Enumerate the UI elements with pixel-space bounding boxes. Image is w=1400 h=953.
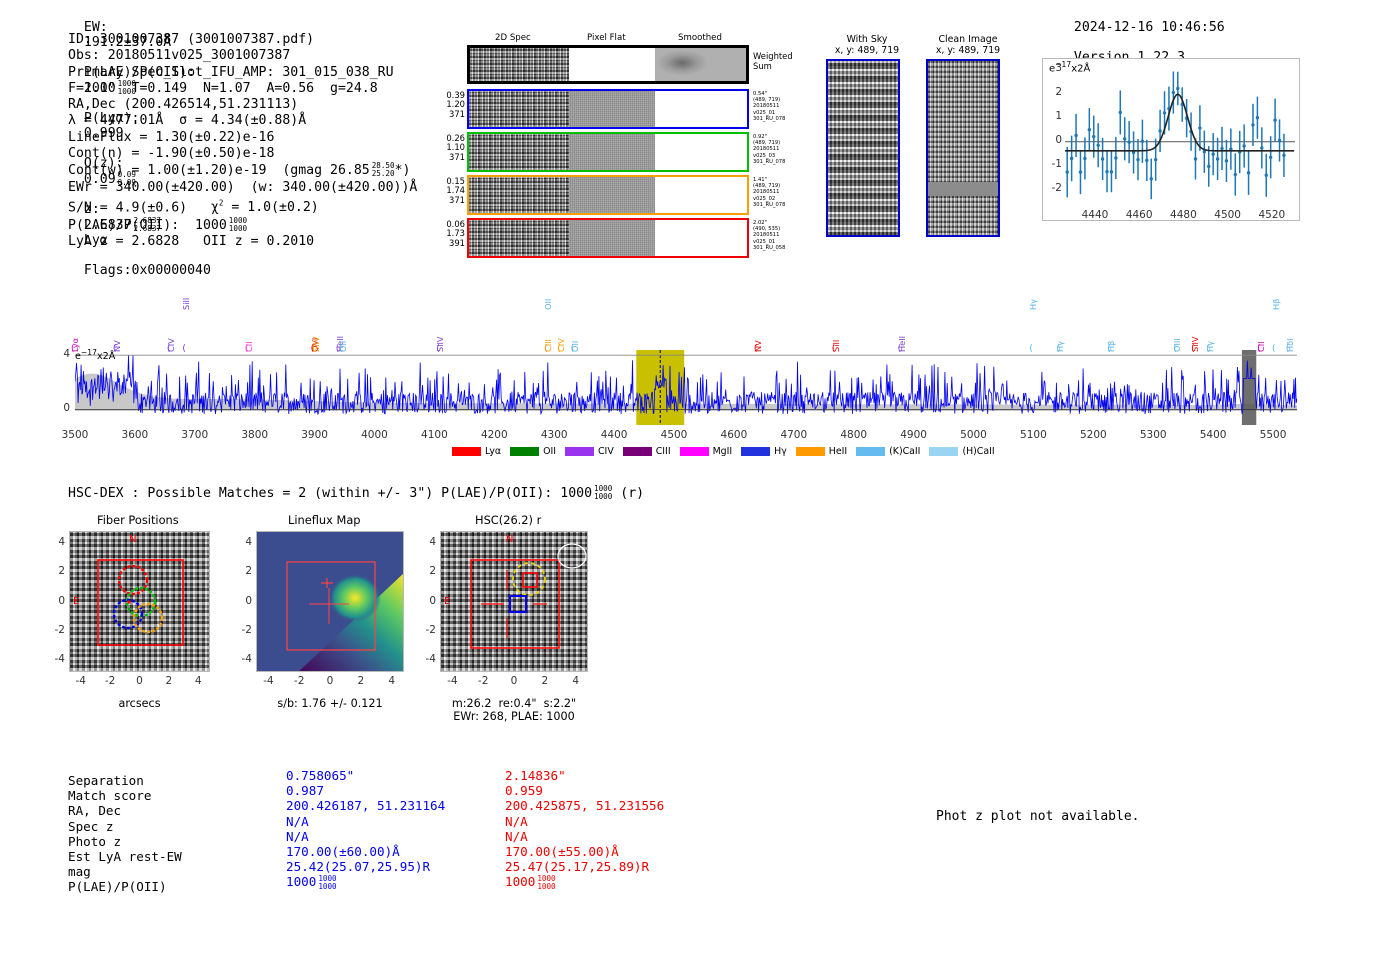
info-cont-wide-tail: *) [395, 163, 411, 178]
fiber-positions-y-tick: -4 [49, 653, 65, 665]
fiber-positions-y-tick: 0 [49, 595, 65, 607]
match-table-labels: SeparationMatch scoreRA, DecSpec zPhoto … [68, 773, 182, 895]
info-cont-wide-main: Cont(w) = 1.00(±1.20)e-19 (gmag 26.85 [68, 163, 370, 178]
hsc-r-x-tick: 0 [500, 675, 528, 687]
hsc-dex-header-den: 1000 [594, 493, 612, 501]
info-lineflux: LineFlux = 1.30(±0.22)e-16 [68, 130, 417, 146]
spectrum-line-label: SiII [181, 266, 191, 310]
match-table-cell: 100010001000 [286, 874, 445, 891]
hsc-r-y-tick: 2 [420, 565, 436, 577]
lineflux-map-x-tick: 0 [316, 675, 344, 687]
spectrum-line-label: OII [543, 266, 553, 310]
spectrum-x-tick: 4600 [714, 429, 754, 441]
line-fit-y-tick: 2 [1046, 86, 1062, 98]
spectrum-x-tick: 4800 [834, 429, 874, 441]
info-seeing-params: F=2.1" T=0.149 N=1.07 A=0.56 g=24.8 [68, 81, 417, 97]
spectrum-x-tick: 5100 [1013, 429, 1053, 441]
legend-item: Hγ [741, 446, 787, 457]
legend-item: (K)CaII [856, 446, 920, 457]
legend-swatch [565, 447, 594, 456]
match-table-cell: 170.00(±60.00)Å [286, 844, 445, 859]
spec2d-row-2-note-4: 301_RU_078 [753, 202, 815, 208]
spec2d-row-1-strip [467, 132, 749, 172]
match-table-cell: 0.758065" [286, 768, 445, 783]
lineflux-map-y-tick: 2 [236, 565, 252, 577]
match-table-row-label: P(LAE)/P(OII) [68, 879, 182, 894]
legend-label: MgII [713, 446, 733, 457]
fiber-positions-x-tick: -4 [67, 675, 95, 687]
info-plae: P(LAE)/P(OII): 100010001000 [68, 217, 417, 234]
match-table-cell: 2.14836" [505, 768, 664, 783]
spectrum-x-tick: 4200 [474, 429, 514, 441]
spectrum-x-tick: 4700 [774, 429, 814, 441]
info-obs: Obs: 20180511v025_3001007387 [68, 48, 417, 64]
info-wavelength-sigma: λ = 4477.01Å σ = 4.34(±0.88)Å [68, 113, 417, 129]
info-cont-wide-lo: 25.20 [372, 170, 395, 178]
spectrum-x-tick: 3900 [295, 429, 335, 441]
match-table-cell: 100010001000 [505, 874, 664, 891]
match-table-cell: 25.42(25.07,25.95)R [286, 859, 445, 874]
line-fit-x-tick: 4480 [1165, 209, 1201, 221]
match-table-plae-fraction: 10001000 [318, 875, 336, 891]
match-table-cell: 200.426187, 51.231164 [286, 798, 445, 813]
line-fit-plot [1042, 58, 1300, 221]
legend-swatch [623, 447, 652, 456]
legend-label: CIII [656, 446, 671, 457]
match-table-column-0: 0.758065"0.987200.426187, 51.231164N/AN/… [286, 768, 445, 891]
legend-label: HeII [829, 446, 847, 457]
spec2d-row-2-notes: 1.41"(489, 719)20180511v025_02301_RU_078 [753, 177, 815, 208]
spec2d-row-3-strip [467, 218, 749, 258]
legend-swatch [680, 447, 709, 456]
fiber-positions-image [69, 531, 210, 672]
line-fit-y-tick: -2 [1046, 182, 1062, 194]
spec2d-col-title-smoothed: Smoothed [678, 33, 722, 43]
legend-item: (H)CaII [929, 446, 994, 457]
header-datetime-text: 2024-12-16 10:46:56 [1074, 20, 1225, 35]
legend-item: MgII [680, 446, 733, 457]
info-ewr: EWr = 340.00(±420.00) (w: 340.00(±420.00… [68, 180, 417, 196]
legend-label: Hγ [774, 446, 787, 457]
legend-item: HeII [796, 446, 847, 457]
legend-item: CIV [565, 446, 614, 457]
with-sky-image [826, 59, 900, 237]
fiber-positions-compass-n: N [129, 534, 136, 545]
hsc-r-y-tick: -2 [420, 624, 436, 636]
spectrum-y-tick: 4 [58, 348, 70, 360]
spectrum-x-tick: 3800 [235, 429, 275, 441]
spec2d-row-2-strip [467, 175, 749, 215]
spectrum-line-bracket: ( [71, 344, 75, 354]
lineflux-map-caption: s/b: 1.76 +/- 0.121 [250, 697, 410, 710]
legend-swatch [856, 447, 885, 456]
hsc-r-x-tick: -2 [469, 675, 497, 687]
line-fit-x-tick: 4500 [1210, 209, 1246, 221]
match-table-plae-value: 1000 [505, 874, 535, 889]
line-fit-x-tick: 4520 [1254, 209, 1290, 221]
legend-swatch [796, 447, 825, 456]
full-spectrum-plot [75, 350, 1297, 425]
match-table-row-label: Match score [68, 788, 182, 803]
spectrum-x-tick: 3600 [115, 429, 155, 441]
spec2d-row-0-notes: 0.54"(489, 719)20180511v025_01301_RU_078 [753, 91, 815, 122]
spectrum-y-tick: 0 [58, 402, 70, 414]
hsc-r-compass-n: N [506, 534, 513, 545]
lineflux-map-y-tick: -4 [236, 653, 252, 665]
info-cont-narrow: Cont(n) = -1.90(±0.50)e-18 [68, 146, 417, 162]
line-fit-y-tick: -1 [1046, 158, 1062, 170]
info-id: ID: 3001007387 (3001007387.pdf) [68, 32, 417, 48]
match-table-cell: 200.425875, 51.231556 [505, 798, 664, 813]
line-fit-y-tick: 0 [1046, 134, 1062, 146]
legend-swatch [452, 447, 481, 456]
spectrum-legend: LyαOIICIVCIIIMgIIHγHeII(K)CaII(H)CaII [452, 446, 995, 457]
info-radec: RA,Dec (200.426514,51.231113) [68, 97, 417, 113]
spec2d-row-3-notes: 2.02"(490, 535)20180511v025_01301_RU_058 [753, 220, 815, 251]
spec2d-row-1-num-2: 371 [435, 153, 465, 162]
match-table-plae-den: 1000 [537, 883, 555, 891]
lineflux-map-y-tick: 4 [236, 536, 252, 548]
photz-unavailable-note: Phot z plot not available. [936, 809, 1140, 824]
lineflux-map-x-tick: 4 [378, 675, 406, 687]
hsc-r-caption: m:26.2 re:0.4" s:2.2" EWr: 268, PLAE: 10… [434, 697, 594, 723]
match-table-row-label: Spec z [68, 819, 182, 834]
hsc-r-y-tick: -4 [420, 653, 436, 665]
info-primary-spec: Primary Spec_Slot_IFU_AMP: 301_015_038_R… [68, 65, 417, 81]
hsc-dex-header-main: HSC-DEX : Possible Matches = 2 (within +… [68, 486, 592, 501]
info-sn: S/N = 4.9(±0.6) [68, 200, 187, 215]
spectrum-x-tick: 5000 [954, 429, 994, 441]
match-table-plae-value: 1000 [286, 874, 316, 889]
spectrum-x-tick: 5200 [1073, 429, 1113, 441]
legend-label: OII [543, 446, 556, 457]
match-table-cell: N/A [505, 814, 664, 829]
header-flags: Flags:0x00000040 [84, 263, 211, 278]
info-redshifts: LyA z = 2.6828 OII z = 0.2010 [68, 234, 417, 250]
legend-label: (H)CaII [962, 446, 994, 457]
legend-label: CIV [598, 446, 614, 457]
spectrum-line-label: Hγ [1028, 266, 1038, 310]
hsc-dex-header: HSC-DEX : Possible Matches = 2 (within +… [68, 485, 644, 501]
spectrum-x-tick: 5400 [1193, 429, 1233, 441]
spectrum-x-tick: 5500 [1253, 429, 1293, 441]
info-plae-den: 1000 [229, 225, 247, 233]
fiber-positions-x-tick: 0 [126, 675, 154, 687]
fiber-positions-compass-e: E [73, 596, 79, 607]
line-fit-y-tick: 1 [1046, 110, 1062, 122]
info-chi2: χ2 = 1.0(±0.2) [211, 200, 319, 215]
match-table-row-label: mag [68, 864, 182, 879]
fiber-positions-x-tick: 4 [184, 675, 212, 687]
match-table-cell: 0.959 [505, 783, 664, 798]
hsc-r-x-tick: 4 [562, 675, 590, 687]
info-cont-wide: Cont(w) = 1.00(±1.20)e-19 (gmag 26.8528.… [68, 162, 417, 179]
clean-image [926, 59, 1000, 237]
hsc-r-y-tick: 4 [420, 536, 436, 548]
hsc-r-compass-e: E [444, 596, 450, 607]
legend-swatch [929, 447, 958, 456]
fiber-positions-x-tick: -2 [96, 675, 124, 687]
match-table-cell: N/A [286, 829, 445, 844]
fiber-positions-xlabel: arcsecs [69, 697, 210, 710]
weighted-sum-strip [467, 45, 749, 84]
hsc-r-x-tick: -4 [438, 675, 466, 687]
spec2d-col-title-2dspec: 2D Spec [495, 33, 531, 43]
spec2d-row-3-left-nums: 0.061.73391 [435, 220, 465, 248]
spec2d-row-0-strip [467, 89, 749, 129]
spectrum-flux-annotation: e−17x2Å [75, 348, 115, 362]
weighted-sum-label: Weighted Sum [753, 51, 815, 71]
match-table-row-label: Photo z [68, 834, 182, 849]
legend-item: Lyα [452, 446, 501, 457]
hsc-r-y-tick: 0 [420, 595, 436, 607]
spec2d-row-3-note-4: 301_RU_058 [753, 245, 815, 251]
spectrum-x-tick: 4400 [594, 429, 634, 441]
spec2d-row-0-note-4: 301_RU_078 [753, 116, 815, 122]
spectrum-x-tick: 4100 [414, 429, 454, 441]
spec2d-col-title-pixelflat: Pixel Flat [587, 33, 626, 43]
match-table-column-1: 2.14836"0.959200.425875, 51.231556N/AN/A… [505, 768, 664, 891]
spectrum-x-tick: 5300 [1133, 429, 1173, 441]
match-table-cell: 25.47(25.17,25.89)R [505, 859, 664, 874]
match-table-plae-fraction: 10001000 [537, 875, 555, 891]
hsc-r-x-tick: 2 [531, 675, 559, 687]
spectrum-x-tick: 4500 [654, 429, 694, 441]
spectrum-x-tick: 4300 [534, 429, 574, 441]
legend-label: Lyα [485, 446, 501, 457]
info-plae-label: P(LAE)/P(OII): 1000 [68, 218, 227, 233]
hsc-r-title: HSC(26.2) r [475, 513, 541, 527]
match-table-plae-den: 1000 [318, 883, 336, 891]
spec2d-row-0-num-2: 371 [435, 110, 465, 119]
header-timestamp-block: 2024-12-16 10:46:56 Version 1.22.3 [1058, 5, 1225, 65]
spec2d-row-1-notes: 0.92"(489, 719)20180511v025_03301_RU_078 [753, 134, 815, 165]
legend-item: CIII [623, 446, 671, 457]
line-fit-x-tick: 4440 [1077, 209, 1113, 221]
clean-image-title: Clean Imagex, y: 489, 719 [918, 34, 1018, 56]
info-sn-chi2: S/N = 4.9(±0.6) χ2 = 1.0(±0.2) [68, 196, 417, 217]
with-sky-title: With Skyx, y: 489, 719 [822, 34, 912, 56]
spectrum-x-tick: 3500 [55, 429, 95, 441]
hsc-r-image [440, 531, 588, 672]
match-table-row-label: Separation [68, 773, 182, 788]
legend-item: OII [510, 446, 556, 457]
lineflux-map-x-tick: -4 [254, 675, 282, 687]
fiber-positions-y-tick: 4 [49, 536, 65, 548]
match-table-cell: N/A [505, 829, 664, 844]
spec2d-row-0-left-nums: 0.391.20371 [435, 91, 465, 119]
spectrum-x-tick: 4000 [355, 429, 395, 441]
lineflux-map-x-tick: -2 [285, 675, 313, 687]
spec2d-row-1-left-nums: 0.261.10371 [435, 134, 465, 162]
lineflux-map-title: Lineflux Map [288, 513, 361, 527]
spec2d-row-2-num-2: 371 [435, 196, 465, 205]
lineflux-map-y-tick: 0 [236, 595, 252, 607]
match-table-cell: 0.987 [286, 783, 445, 798]
spec2d-row-2-left-nums: 0.151.74371 [435, 177, 465, 205]
lineflux-map-x-tick: 2 [347, 675, 375, 687]
spec2d-row-3-num-2: 391 [435, 239, 465, 248]
fiber-positions-y-tick: -2 [49, 624, 65, 636]
lineflux-map-y-tick: -2 [236, 624, 252, 636]
spec2d-row-1-note-4: 301_RU_078 [753, 159, 815, 165]
lineflux-map-image [256, 531, 404, 672]
match-table-cell: 170.00(±55.00)Å [505, 844, 664, 859]
spectrum-x-tick: 3700 [175, 429, 215, 441]
legend-swatch [741, 447, 770, 456]
line-fit-y-tick: 3 [1046, 62, 1062, 74]
fiber-positions-x-tick: 2 [155, 675, 183, 687]
legend-swatch [510, 447, 539, 456]
fiber-positions-y-tick: 2 [49, 565, 65, 577]
spectrum-line-label: Hβ [1271, 266, 1281, 310]
match-table-cell: N/A [286, 814, 445, 829]
spectrum-x-tick: 4900 [894, 429, 934, 441]
hsc-dex-header-tail: (r) [620, 486, 644, 501]
fiber-positions-title: Fiber Positions [97, 513, 179, 527]
match-table-row-label: RA, Dec [68, 803, 182, 818]
spec2d-panel-group: 2D Spec Pixel Flat Smoothed Weighted Sum… [435, 33, 765, 248]
match-table-row-label: Est LyA rest-EW [68, 849, 182, 864]
line-fit-x-tick: 4460 [1121, 209, 1157, 221]
detection-info-block: ID: 3001007387 (3001007387.pdf) Obs: 201… [68, 32, 417, 250]
legend-label: (K)CaII [889, 446, 920, 457]
